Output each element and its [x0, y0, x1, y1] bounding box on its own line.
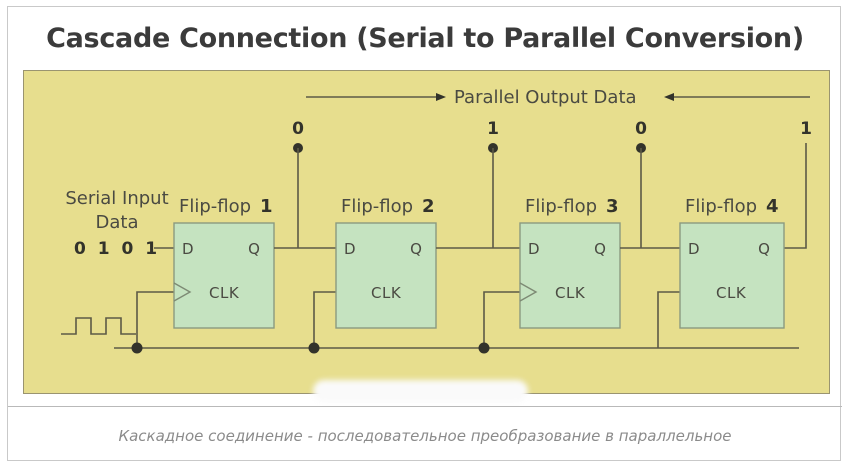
serial-input-block: Serial Input Data 0 1 0 1: [65, 188, 174, 259]
parallel-output-left-arrowhead: [436, 93, 446, 101]
flipflop-2-pin-d: D: [344, 240, 356, 258]
flipflop-4-number: 4: [766, 196, 779, 217]
flipflop-2-number: 2: [422, 196, 435, 217]
flipflop-4-pin-q: Q: [758, 240, 770, 258]
output-tap-1: 0: [292, 119, 304, 248]
output-bit-2: 0: [635, 119, 647, 139]
flipflop-3-box[interactable]: [520, 223, 620, 328]
clock-riser-1: [137, 292, 174, 348]
flipflop-1-pin-d: D: [182, 240, 194, 258]
parallel-output-header: Parallel Output Data: [306, 87, 810, 108]
clock-waveform-icon: [61, 318, 136, 334]
clock-pulse-train: [61, 318, 136, 334]
clock-riser-3: [484, 292, 520, 348]
clock-junction-dot-3: [479, 343, 490, 354]
flipflop-4-pin-clk: CLK: [716, 284, 747, 302]
serial-input-bits: 0 1 0 1: [74, 239, 160, 259]
output-bit-1: 1: [487, 119, 499, 139]
circuit-diagram-panel: Parallel Output Data 0 1 0 1: [23, 70, 830, 394]
flipflop-3[interactable]: Flip-flop 3 D Q CLK: [520, 196, 680, 328]
serial-input-label-line1: Serial Input: [65, 188, 168, 209]
output-tap-3: 0: [635, 119, 647, 248]
parallel-output-right-arrowhead: [664, 93, 674, 101]
circuit-svg: Parallel Output Data 0 1 0 1: [24, 71, 830, 394]
page-title: Cascade Connection (Serial to Parallel C…: [8, 23, 842, 54]
flipflop-4-box[interactable]: [680, 223, 784, 328]
flipflop-4-pin-d: D: [688, 240, 700, 258]
clock-junction-dot-1: [132, 343, 143, 354]
flipflop-1-pin-q: Q: [248, 240, 260, 258]
flipflop-1-number: 1: [260, 196, 273, 217]
clock-riser-2: [314, 292, 336, 348]
flipflop-3-pin-q: Q: [594, 240, 606, 258]
flipflop-3-pin-d: D: [528, 240, 540, 258]
parallel-output-label: Parallel Output Data: [454, 87, 637, 108]
flipflop-4-title: Flip-flop: [685, 196, 757, 217]
output-tap-2: 1: [487, 119, 499, 248]
background-watermark: [313, 380, 528, 402]
flipflop-1-box[interactable]: [174, 223, 274, 328]
diagram-card: Cascade Connection (Serial to Parallel C…: [7, 6, 841, 461]
flipflop-2-pin-clk: CLK: [371, 284, 402, 302]
flipflop-1[interactable]: Flip-flop 1 D Q CLK: [174, 196, 336, 328]
output-bit-0: 0: [292, 119, 304, 139]
output-tap-4: 1: [784, 119, 812, 248]
flipflop-1-title: Flip-flop: [179, 196, 251, 217]
serial-input-label-line2: Data: [96, 212, 139, 233]
flipflop-2-title: Flip-flop: [341, 196, 413, 217]
caption-divider: [8, 406, 842, 407]
flipflop-3-pin-clk: CLK: [555, 284, 586, 302]
flipflop-2-box[interactable]: [336, 223, 436, 328]
flipflop-3-number: 3: [606, 196, 619, 217]
flipflop-4[interactable]: Flip-flop 4 D Q CLK: [680, 196, 784, 328]
flipflop-2-pin-q: Q: [410, 240, 422, 258]
output-tap-line-4: [784, 143, 806, 248]
clock-riser-4: [658, 292, 680, 348]
clock-junction-dot-2: [309, 343, 320, 354]
flipflop-3-title: Flip-flop: [525, 196, 597, 217]
caption-text: Каскадное соединение - последовательное …: [8, 427, 842, 445]
output-bit-3: 1: [800, 119, 812, 139]
flipflop-1-pin-clk: CLK: [209, 284, 240, 302]
